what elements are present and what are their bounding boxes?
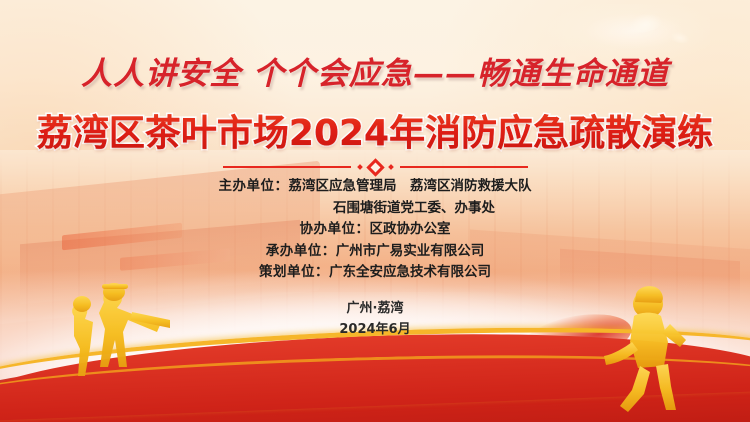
divider-line-left (223, 166, 351, 168)
divider-diamond-icon (366, 158, 384, 176)
organizer-list: 主办单位：荔湾区应急管理局 荔湾区消防救援大队 石围塘街道党工委、办事处 协办单… (0, 176, 750, 284)
organizer-row-co-host: 协办单位：区政协办公室 (0, 219, 750, 241)
decorative-divider (0, 158, 750, 176)
poster-content: 人人讲安全 个个会应急——畅通生命通道 荔湾区茶叶市场2024年消防应急疏散演练… (0, 0, 750, 422)
poster-main-title: 荔湾区茶叶市场2024年消防应急疏散演练 (0, 104, 750, 156)
poster-slogan: 人人讲安全 个个会应急——畅通生命通道 (0, 48, 750, 93)
organizer-value-co-host: 区政协办公室 (370, 221, 451, 237)
organizer-row-host-2: 石围塘街道党工委、办事处 (0, 198, 750, 220)
organizer-value-host-2: 石围塘街道党工委、办事处 (333, 200, 495, 216)
organizer-label-planner: 策划单位： (259, 264, 329, 280)
footer-location: 广州·荔湾 (0, 298, 750, 319)
organizer-row-host: 主办单位：荔湾区应急管理局 荔湾区消防救援大队 (0, 176, 750, 198)
poster-footer: 广州·荔湾 2024年6月 (0, 298, 750, 340)
organizer-value-undertaker: 广州市广易实业有限公司 (336, 243, 485, 259)
organizer-row-undertaker: 承办单位：广州市广易实业有限公司 (0, 241, 750, 263)
organizer-value-host: 荔湾区应急管理局 荔湾区消防救援大队 (289, 178, 532, 194)
organizer-value-planner: 广东全安应急技术有限公司 (329, 264, 491, 280)
organizer-label-host: 主办单位： (219, 178, 289, 194)
divider-dot-left (357, 164, 363, 170)
divider-dot-right (388, 164, 394, 170)
organizer-label-co-host: 协办单位： (300, 221, 370, 237)
divider-line-right (400, 166, 528, 168)
organizer-label-undertaker: 承办单位： (266, 243, 336, 259)
poster-canvas: 人人讲安全 个个会应急——畅通生命通道 荔湾区茶叶市场2024年消防应急疏散演练… (0, 0, 750, 422)
footer-date: 2024年6月 (0, 319, 750, 340)
organizer-row-planner: 策划单位：广东全安应急技术有限公司 (0, 262, 750, 284)
